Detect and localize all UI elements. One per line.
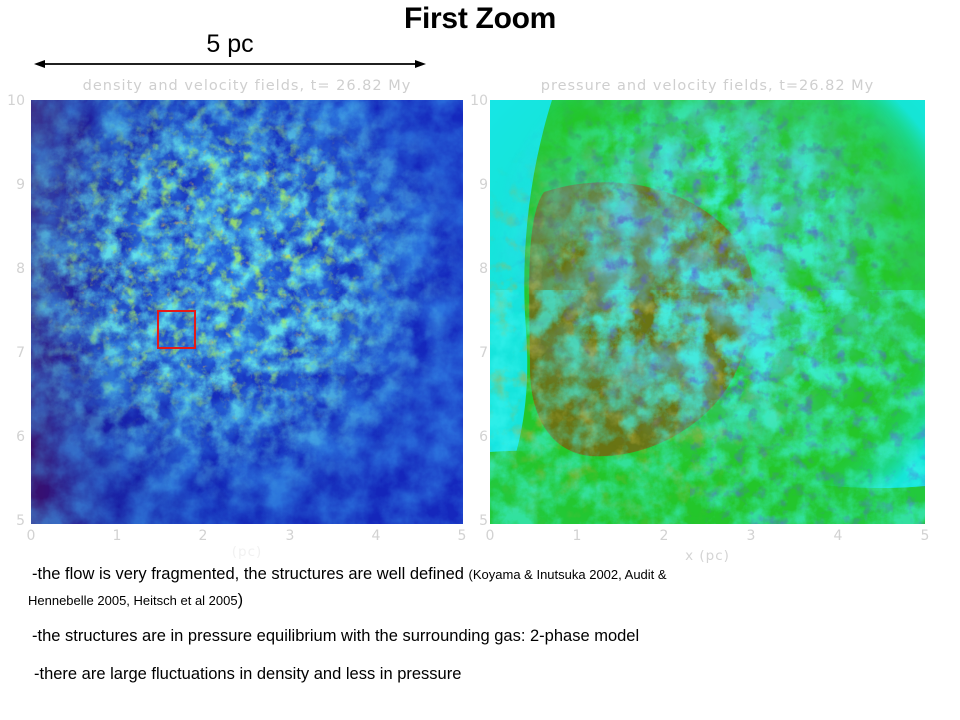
y-tick-6: 6 [463, 429, 488, 445]
x-tick-2: 2 [650, 528, 678, 544]
x-tick-5: 5 [911, 528, 939, 544]
y-tick-9: 9 [463, 177, 488, 193]
y-tick-9: 9 [0, 177, 25, 193]
pressure-x-axis-title: x (pc) [490, 548, 925, 564]
panel-density-caption: density and velocity fields, t= 26.82 My [31, 78, 463, 94]
x-tick-4: 4 [362, 528, 390, 544]
scale-bar: 5 pc [34, 30, 426, 80]
x-tick-1: 1 [103, 528, 131, 544]
x-tick-3: 3 [276, 528, 304, 544]
bullet-1-text: -the flow is very fragmented, the struct… [32, 565, 464, 583]
pressure-plot-area[interactable] [490, 100, 925, 524]
bullet-1-citation-close: ) [238, 591, 244, 609]
bullet-1-citation-cont: Hennebelle 2005, Heitsch et al 2005 [28, 593, 238, 608]
y-tick-7: 7 [463, 345, 488, 361]
y-tick-5: 5 [463, 513, 488, 529]
bullet-1-citation-open: (Koyama & Inutsuka 2002, Audit & [469, 567, 667, 582]
x-tick-3: 3 [737, 528, 765, 544]
panel-pressure-caption: pressure and velocity fields, t=26.82 My [490, 78, 925, 94]
bullet-item-1-continuation: Hennebelle 2005, Heitsch et al 2005) [28, 590, 243, 611]
bullet-item-3: -there are large fluctuations in density… [34, 664, 461, 685]
density-plot-area[interactable] [31, 100, 463, 524]
x-tick-0: 0 [17, 528, 45, 544]
x-tick-2: 2 [189, 528, 217, 544]
density-x-axis-title: (pc) [31, 544, 463, 560]
y-tick-10: 10 [463, 93, 488, 109]
panel-pressure: pressure and velocity fields, t=26.82 My… [460, 76, 950, 556]
y-tick-10: 10 [0, 93, 25, 109]
double-headed-arrow-icon [34, 58, 426, 70]
x-tick-4: 4 [824, 528, 852, 544]
scale-bar-label: 5 pc [34, 30, 426, 59]
pressure-field-image [490, 100, 925, 524]
bullet-item-1: -the flow is very fragmented, the struct… [32, 564, 667, 585]
density-field-image [31, 100, 463, 524]
x-tick-0: 0 [476, 528, 504, 544]
y-tick-7: 7 [0, 345, 25, 361]
bullet-item-2: -the structures are in pressure equilibr… [32, 626, 639, 647]
x-tick-1: 1 [563, 528, 591, 544]
y-tick-6: 6 [0, 429, 25, 445]
y-tick-8: 8 [463, 261, 488, 277]
panel-density: density and velocity fields, t= 26.82 My… [0, 76, 470, 546]
y-tick-5: 5 [0, 513, 25, 529]
y-tick-8: 8 [0, 261, 25, 277]
